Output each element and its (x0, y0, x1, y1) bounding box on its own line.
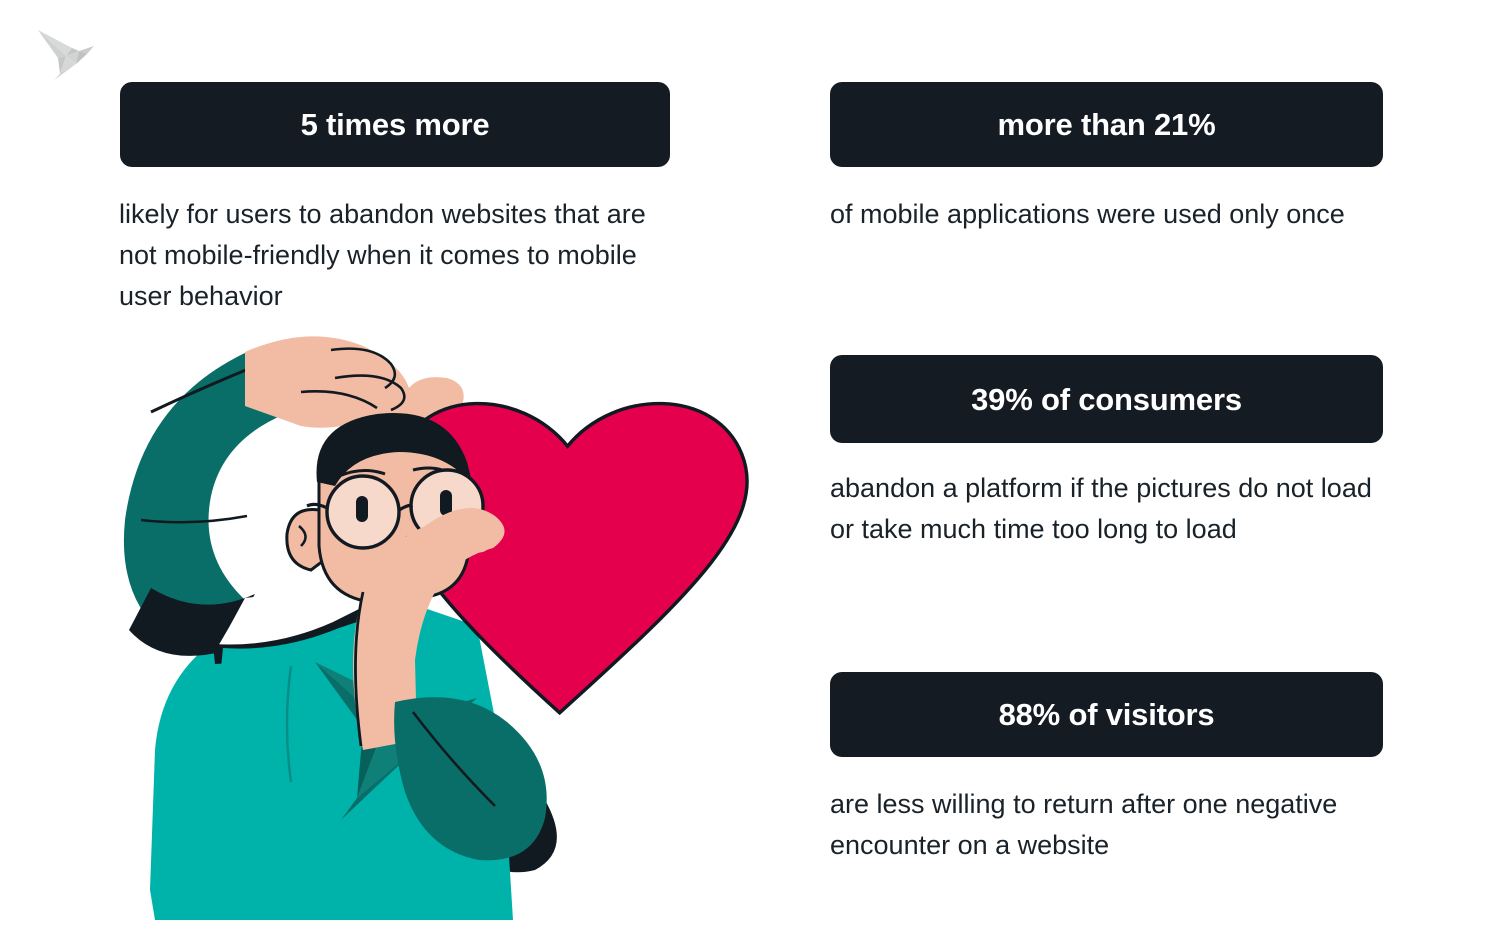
stat-body-88-percent: are less willing to return after one neg… (830, 784, 1390, 866)
stat-headline: 5 times more (301, 109, 490, 140)
glasses-temple (307, 504, 327, 508)
stat-headline: more than 21% (998, 109, 1216, 140)
infographic-page: { "page": { "background_color": "#ffffff… (0, 0, 1500, 915)
brand-logo (32, 18, 112, 90)
stat-card-39-percent: 39% of consumers (830, 355, 1383, 443)
stat-card-5-times-more: 5 times more (120, 82, 670, 167)
illustration-svg (95, 330, 815, 920)
person-holding-heart-illustration (95, 330, 815, 920)
origami-bird-logo-icon (32, 18, 112, 90)
stat-body-5-times-more: likely for users to abandon websites tha… (119, 194, 649, 317)
pupil-left (356, 496, 368, 522)
stat-headline: 88% of visitors (999, 699, 1215, 730)
stat-card-88-percent: 88% of visitors (830, 672, 1383, 757)
stat-headline: 39% of consumers (971, 384, 1242, 415)
stat-body-39-percent: abandon a platform if the pictures do no… (830, 468, 1400, 550)
stat-card-21-percent: more than 21% (830, 82, 1383, 167)
stat-body-21-percent: of mobile applications were used only on… (830, 194, 1390, 235)
